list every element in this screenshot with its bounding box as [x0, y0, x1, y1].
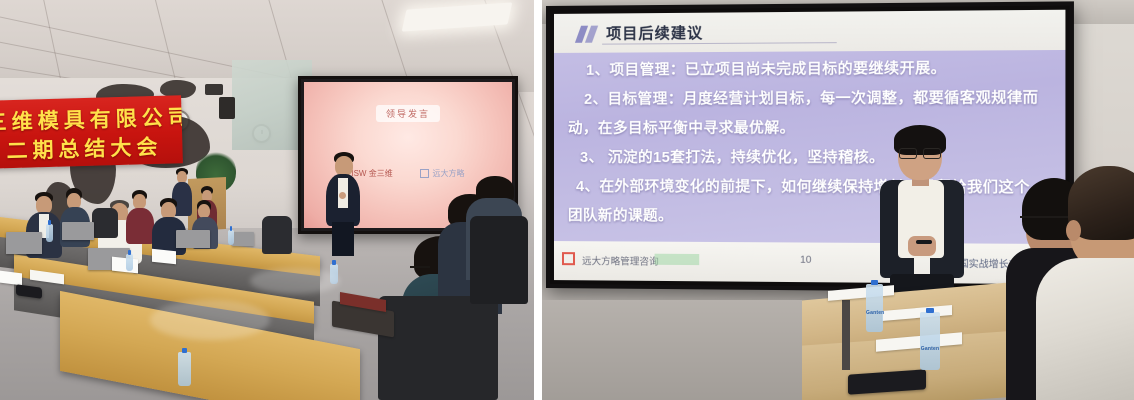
- slide-bullet: 团队新的课题。: [554, 204, 1065, 227]
- water-bottle: [46, 224, 53, 242]
- water-bottle: [126, 254, 133, 271]
- slide-bullet: 3、 沉淀的15套打法，持续优化，坚持稽核。: [554, 146, 1065, 168]
- attendee-ear: [1066, 220, 1081, 241]
- slide-page-number: 10: [800, 255, 811, 266]
- slide-body: 1、项目管理：已立项目尚未完成目标的要继续开展。 2、目标管理：月度经营计划目标…: [554, 50, 1065, 254]
- presenter-hands: [908, 236, 936, 256]
- office-chair: [378, 296, 498, 400]
- water-bottle: [228, 230, 234, 245]
- name-tent: [0, 271, 22, 286]
- slide-bullet: 1、项目管理：已立项目尚未完成目标的要继续开展。: [554, 56, 1065, 80]
- wall-speaker: [219, 97, 235, 119]
- ceiling-light: [402, 2, 513, 31]
- slide-footer: 远大方略管理咨询 10 中国实战增长方案解决商: [554, 241, 1065, 284]
- projection-screen: 项目后续建议 1、项目管理：已立项目尚未完成目标的要继续开展。 2、目标管理：月…: [546, 1, 1074, 292]
- attendee-body: [1036, 258, 1134, 400]
- bottle-label: Ganten: [866, 310, 883, 316]
- brand-square-icon: [562, 252, 575, 265]
- projector: [205, 84, 223, 95]
- clicker-remote: [916, 240, 932, 244]
- office-chair: [92, 208, 118, 238]
- title-underline: [602, 42, 837, 45]
- yuanda-logo-text: 远大方略: [432, 168, 464, 179]
- left-slide-title: 领导发言: [376, 105, 440, 122]
- laptop: [6, 232, 42, 254]
- red-banner: 三维模具有限公司 二期总结大会: [0, 95, 183, 168]
- right-presenter: [872, 128, 972, 308]
- bottle-label: Ganten: [920, 346, 940, 352]
- floor-reflection: [250, 268, 340, 294]
- slide-title: 项目后续建议: [606, 22, 703, 44]
- office-chair: [470, 216, 528, 304]
- banner-line-2: 二期总结大会: [0, 130, 183, 165]
- left-attendee: [126, 190, 154, 244]
- water-bottle: Ganten: [920, 312, 940, 370]
- slide-bullet: 动，在多目标平衡中寻求最优解。: [554, 116, 1065, 138]
- table-leg: [842, 300, 850, 370]
- panel-divider: [534, 0, 542, 400]
- slide-bullet: 4、在外部环境变化的前提下，如何继续保持增长，是留给我们这个: [554, 175, 1065, 198]
- laptop: [176, 230, 210, 248]
- slide: 项目后续建议 1、项目管理：已立项目尚未完成目标的要继续开展。 2、目标管理：月…: [554, 10, 1065, 285]
- slide-title-bar: 项目后续建议: [554, 10, 1065, 53]
- water-bottle: Ganten: [866, 284, 883, 332]
- name-tent: [152, 249, 176, 265]
- water-bottle: [178, 352, 191, 386]
- left-standing-presenter: [320, 152, 366, 252]
- eyeglasses-icon: [898, 148, 942, 157]
- slide-bullet: 2、目标管理：月度经营计划目标，每一次调整，都要循客观规律而: [554, 86, 1065, 109]
- right-foreground-attendee: [1054, 166, 1134, 400]
- laptop: [232, 232, 254, 246]
- floor: [542, 300, 802, 400]
- yuanda-logo: 远大方略: [420, 168, 464, 179]
- name-tent: [112, 257, 138, 274]
- right-photo-panel: 项目后续建议 1、项目管理：已立项目尚未完成目标的要继续开展。 2、目标管理：月…: [542, 0, 1134, 400]
- left-photo-panel: 三维模具有限公司 二期总结大会 领导发言 ISW 金三维 远大方略: [0, 0, 534, 400]
- footer-brand: 远大方略管理咨询: [582, 253, 659, 268]
- laptop: [62, 222, 94, 240]
- yuanda-square-icon: [420, 169, 429, 178]
- footer-highlight: [655, 254, 700, 265]
- office-chair: [262, 216, 292, 254]
- composite-image: 三维模具有限公司 二期总结大会 领导发言 ISW 金三维 远大方略: [0, 0, 1134, 400]
- floor-reflection: [150, 300, 270, 340]
